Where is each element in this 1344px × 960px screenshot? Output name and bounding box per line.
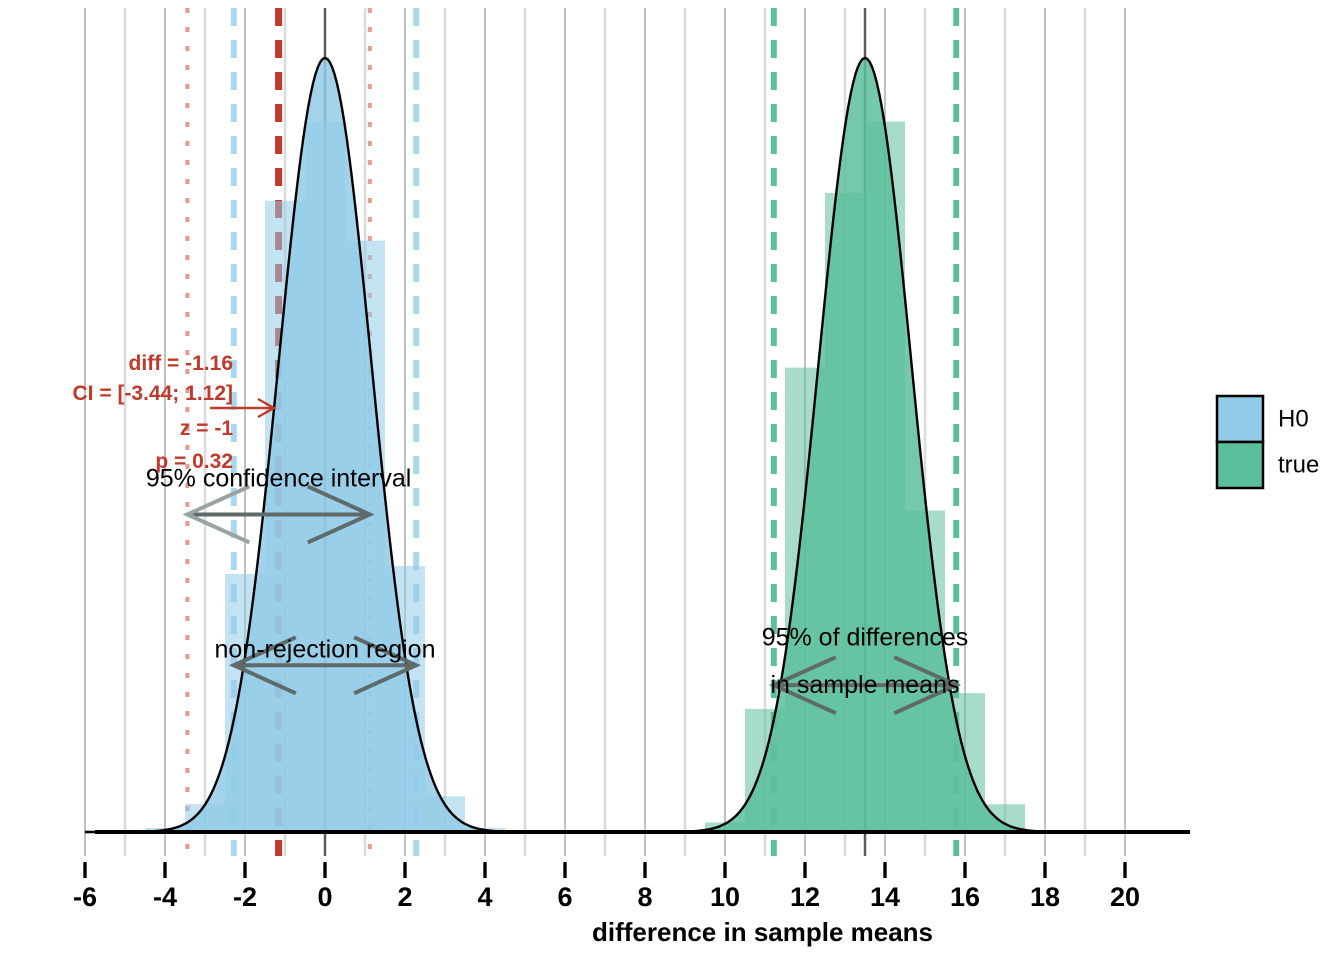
x-tick-label: 14: [870, 882, 900, 912]
stat-p: p = 0.32: [155, 450, 233, 473]
stat-diff: diff = -1.16: [129, 352, 233, 375]
true-interval-annotation-line1: 95% of differences: [762, 623, 969, 651]
x-tick-label: -4: [153, 882, 177, 912]
x-tick-label: 16: [950, 882, 980, 912]
chart-canvas: -6-4-202468101214161820 95% confidence i…: [0, 0, 1344, 960]
x-tick-label: 12: [790, 882, 820, 912]
stat-ci: CI = [-3.44; 1.12]: [73, 382, 233, 405]
legend-label-true: true: [1278, 451, 1319, 478]
x-axis-ticks: -6-4-202468101214161820: [73, 862, 1140, 912]
x-tick-label: 6: [557, 882, 572, 912]
legend-swatch-h0: [1217, 396, 1263, 442]
x-tick-label: 8: [637, 882, 652, 912]
legend: H0 true: [1217, 396, 1319, 488]
legend-swatch-true: [1217, 442, 1263, 488]
density-fill-H0: [85, 58, 565, 832]
density-curves: [85, 58, 1105, 832]
x-tick-label: 20: [1110, 882, 1140, 912]
x-tick-label: -2: [233, 882, 257, 912]
x-tick-label: 4: [477, 882, 492, 912]
true-interval-annotation-line2: in sample means: [771, 671, 960, 699]
stat-z: z = -1: [180, 417, 233, 440]
x-axis-title: difference in sample means: [592, 917, 933, 947]
x-tick-label: 0: [317, 882, 332, 912]
x-tick-label: -6: [73, 882, 97, 912]
x-tick-label: 2: [397, 882, 412, 912]
x-tick-label: 18: [1030, 882, 1060, 912]
distribution-comparison-chart: -6-4-202468101214161820 95% confidence i…: [0, 0, 1344, 960]
density-fill-true: [625, 58, 1105, 832]
nonrejection-annotation-label: non-rejection region: [215, 635, 436, 663]
x-tick-label: 10: [710, 882, 740, 912]
legend-label-h0: H0: [1278, 405, 1309, 432]
